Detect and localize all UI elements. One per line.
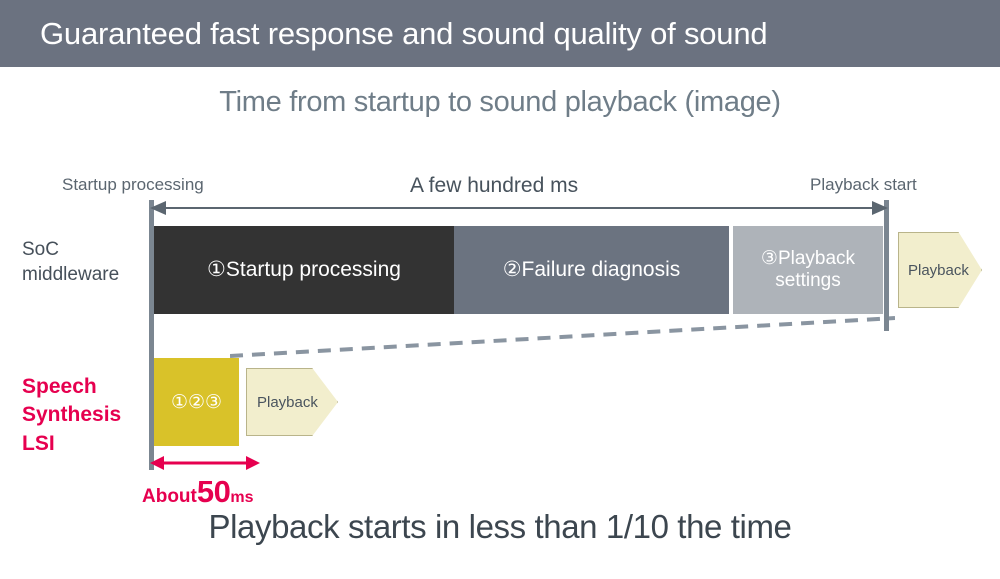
segment-failure-diagnosis[interactable]: ②Failure diagnosis (454, 226, 729, 314)
label-playback-start: Playback start (810, 175, 917, 195)
measurement-unit: ms (230, 489, 253, 507)
row-label-line2: middleware (22, 263, 119, 288)
measurement-prefix: About (142, 486, 197, 508)
timeline-diagram: Startup processing A few hundred ms Play… (0, 0, 1000, 579)
measurement-arrow-icon (150, 455, 260, 471)
playback-label: Playback (257, 394, 318, 411)
segment-label: ①Startup processing (207, 258, 401, 283)
playback-arrow-soc[interactable]: Playback (898, 232, 982, 308)
segment-label: ②Failure diagnosis (503, 258, 681, 283)
row-label-line1: SoC (22, 238, 119, 263)
segment-label: ①②③ (171, 391, 222, 414)
slide-root: Guaranteed fast response and sound quali… (0, 0, 1000, 579)
row-label-soc-middleware: SoC middleware (22, 238, 119, 287)
segment-playback-settings[interactable]: ③Playback settings (733, 226, 883, 314)
segment-label-line2: settings (775, 270, 840, 291)
row-label-line2: Synthesis (22, 401, 121, 429)
segment-startup-processing[interactable]: ①Startup processing (154, 226, 454, 314)
measurement-value: 50 (197, 474, 230, 510)
label-startup-processing: Startup processing (62, 175, 204, 195)
dashed-connector-line (230, 312, 895, 364)
label-a-few-hundred-ms: A few hundred ms (410, 174, 578, 198)
measurement-label: About 50 ms (142, 474, 253, 510)
segment-lsi-combined[interactable]: ①②③ (154, 358, 239, 446)
playback-arrow-lsi[interactable]: Playback (246, 368, 338, 436)
playback-label: Playback (908, 262, 969, 279)
segment-label: ③Playback settings (761, 248, 855, 293)
row-label-speech-synthesis-lsi: Speech Synthesis LSI (22, 373, 121, 458)
duration-arrow-icon (150, 200, 888, 216)
row-label-line3: LSI (22, 430, 121, 458)
bottom-caption: Playback starts in less than 1/10 the ti… (0, 508, 1000, 546)
segment-label-line1: ③Playback (761, 248, 855, 269)
row-label-line1: Speech (22, 373, 121, 401)
